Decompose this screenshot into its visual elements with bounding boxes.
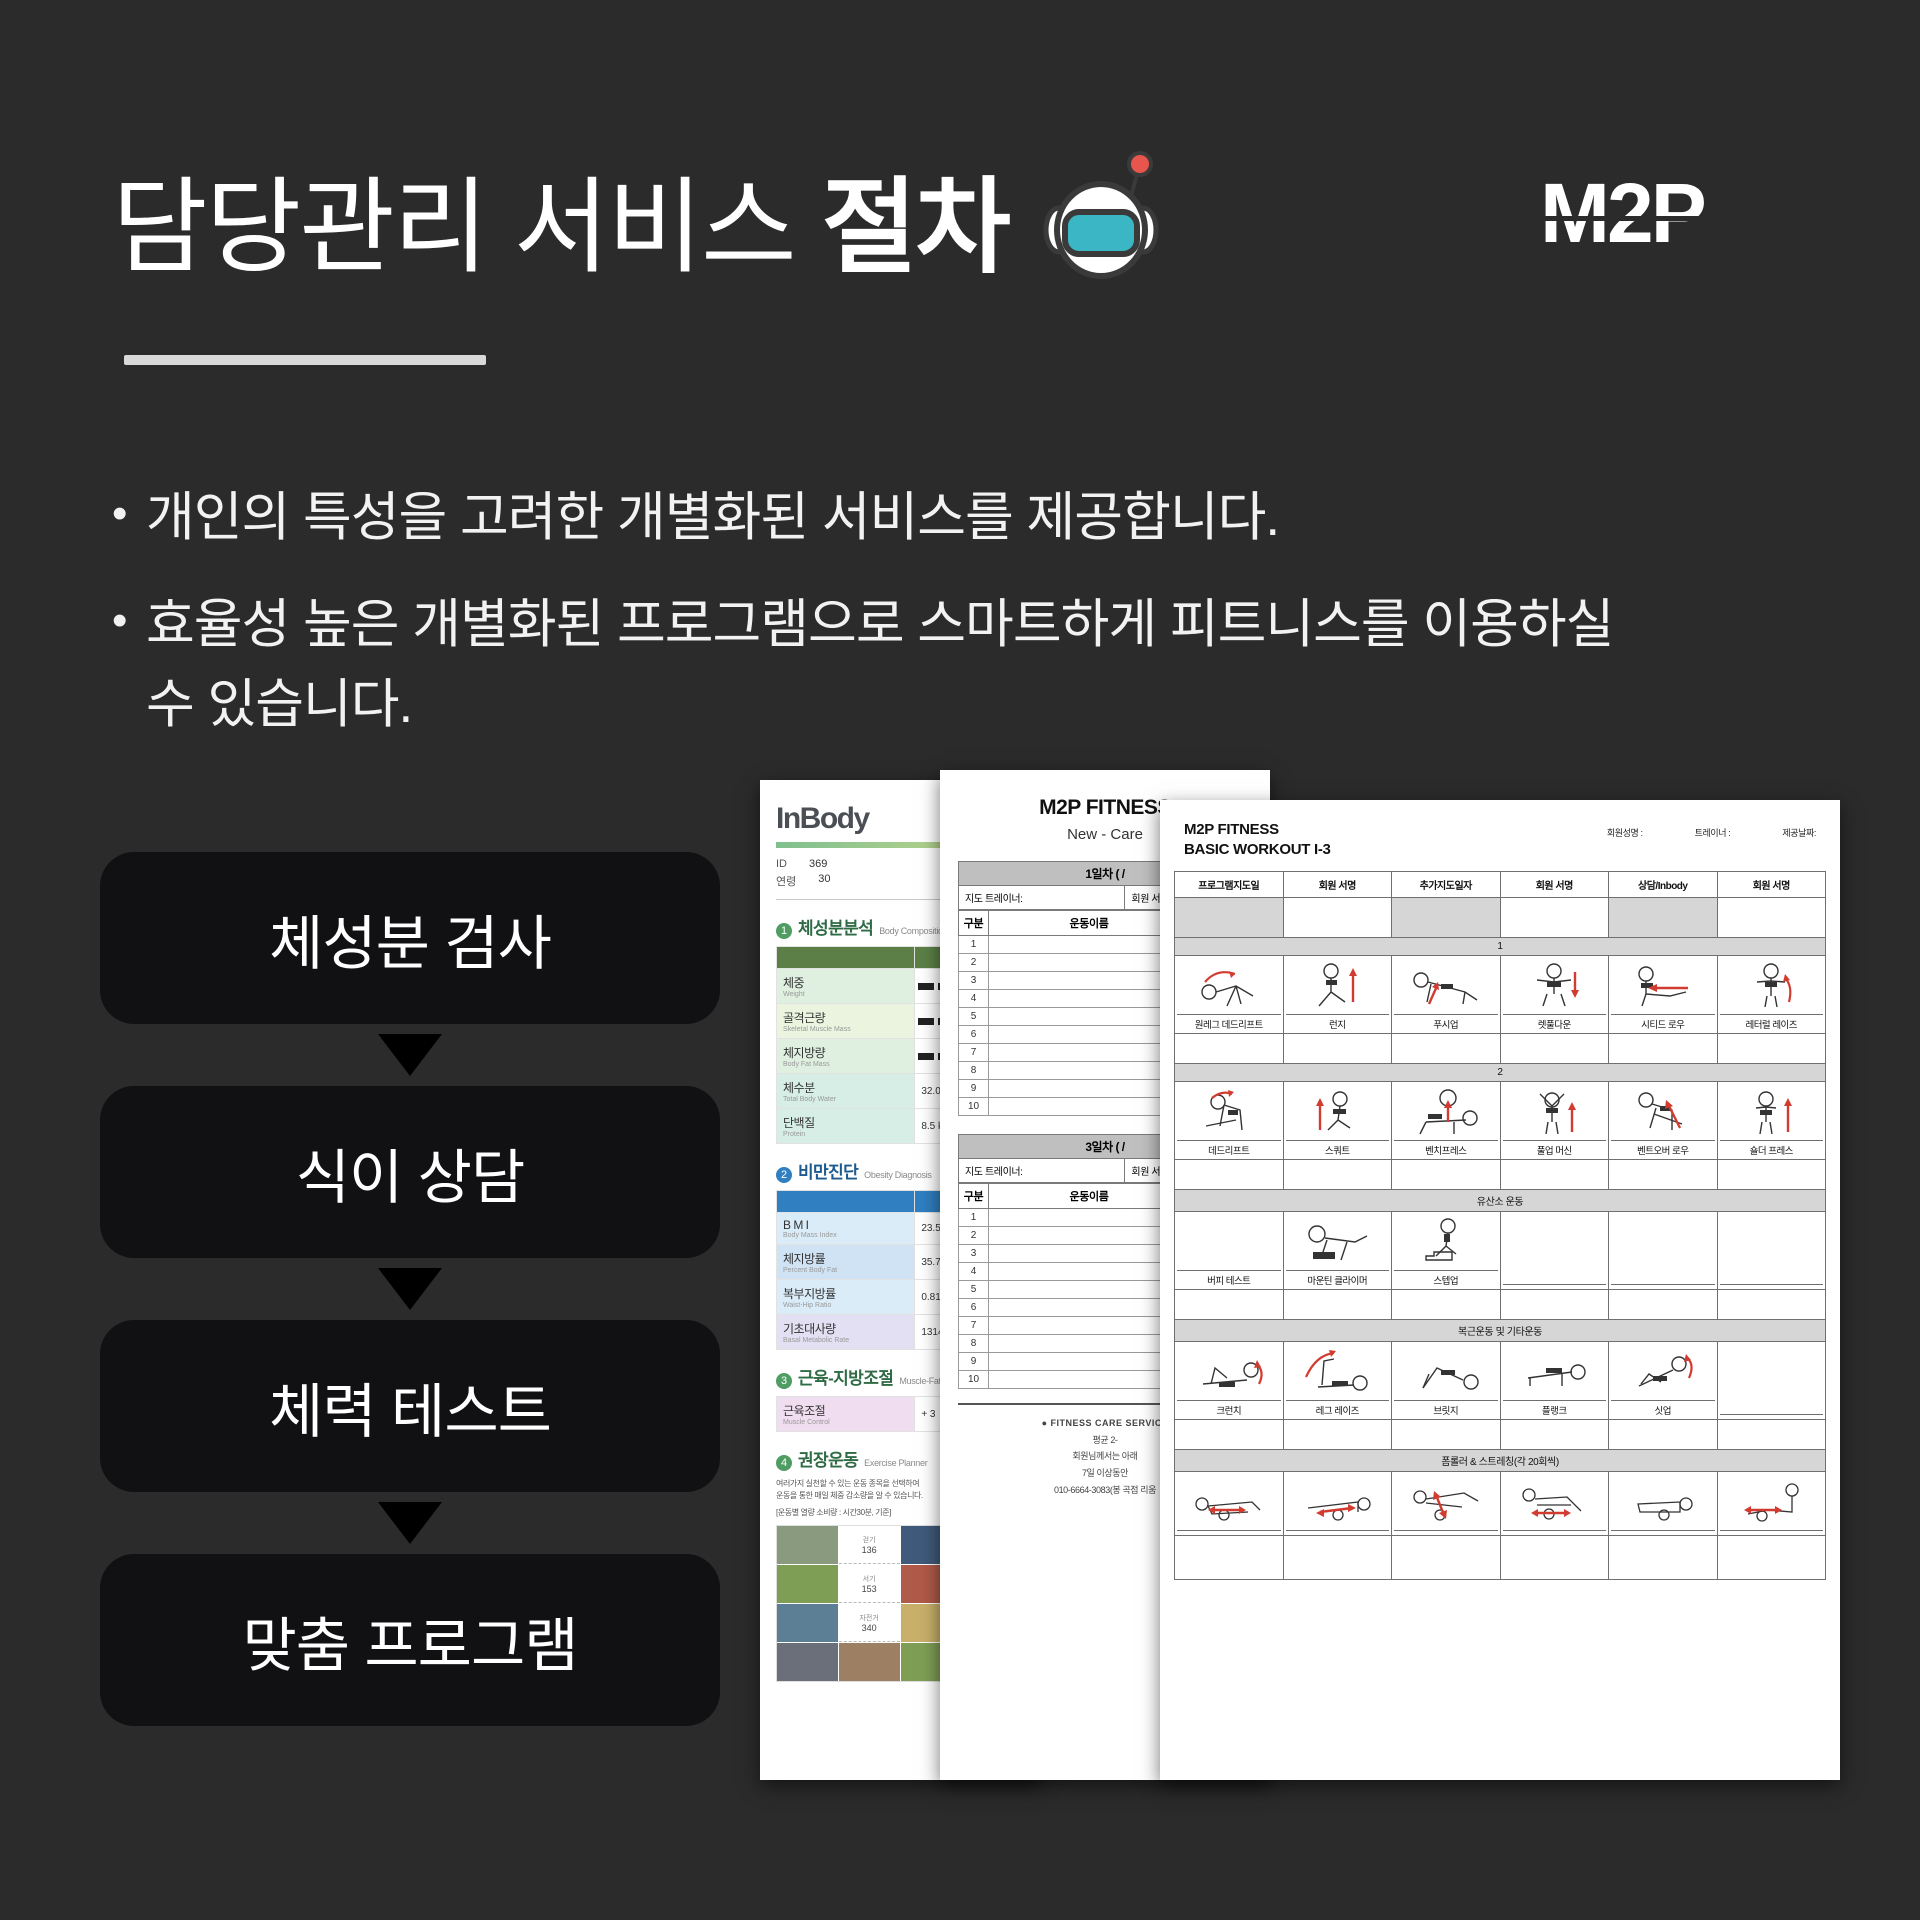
workout-brand: M2P FITNESS BASIC WORKOUT I-3 bbox=[1184, 820, 1331, 861]
figure-sit-up-icon bbox=[1611, 1344, 1715, 1400]
robot-head-icon bbox=[1035, 150, 1167, 282]
document-stack: InBody ID 369 연령 30 1 체성분분석 Body Composi… bbox=[740, 770, 1860, 1800]
row-label-en: Basal Metabolic Rate bbox=[783, 1337, 908, 1344]
inbody-id-value: 369 bbox=[809, 858, 827, 870]
row-label-en: Percent Body Fat bbox=[783, 1267, 908, 1274]
bullet-text: 개인의 특성을 고려한 개별화된 서비스를 제공합니다. bbox=[146, 478, 1672, 559]
exercise-name: 크런치 bbox=[1177, 1400, 1281, 1417]
exercise-cell: 시티드 로우 bbox=[1609, 955, 1718, 1033]
figure-deadlift-icon bbox=[1177, 1084, 1281, 1140]
exercise-cell: 벤치프레스 bbox=[1392, 1081, 1501, 1159]
figure-bent-over-row-icon bbox=[1611, 1084, 1715, 1140]
planner-entry: 걷기 136 bbox=[839, 1526, 900, 1564]
exercise-cell bbox=[1283, 1471, 1392, 1535]
col-gubun: 구분 bbox=[959, 911, 989, 936]
planner-photo bbox=[839, 1643, 900, 1681]
planner-value: 340 bbox=[862, 1623, 877, 1633]
row-label-en: Body Mass Index bbox=[783, 1232, 908, 1239]
row-label-ko: 골격근량 bbox=[783, 1009, 908, 1026]
planner-name: 자전거 bbox=[859, 1613, 878, 1623]
exercise-cell: 버피 테스트 bbox=[1175, 1211, 1284, 1289]
figure-pushup-icon bbox=[1394, 958, 1498, 1014]
row-label-ko: 체지방률 bbox=[783, 1250, 908, 1267]
section-title-ko: 체성분분석 bbox=[798, 914, 873, 939]
row-label-ko: 단백질 bbox=[783, 1114, 908, 1131]
row-label-en: Protein bbox=[783, 1131, 908, 1138]
exercise-name: 싯업 bbox=[1611, 1400, 1715, 1417]
cell[interactable] bbox=[1609, 897, 1718, 937]
row-label-en: Skeletal Muscle Mass bbox=[783, 1026, 908, 1033]
exercise-cell: 런지 bbox=[1283, 955, 1392, 1033]
figure-foam-roll-hamstring-icon bbox=[1286, 1474, 1390, 1530]
planner-photo bbox=[777, 1565, 838, 1603]
row-label-en: Total Body Water bbox=[783, 1096, 908, 1103]
exercise-name bbox=[1611, 1284, 1715, 1287]
figure-foam-roll-it-band-icon bbox=[1394, 1474, 1498, 1530]
figure-lunge-icon bbox=[1286, 958, 1390, 1014]
row-label-en: Weight bbox=[783, 991, 908, 998]
workout-brand-line2: BASIC WORKOUT I-3 bbox=[1184, 840, 1331, 860]
exercise-name: 벤트오버 로우 bbox=[1611, 1140, 1715, 1157]
col-signature-3: 회원 서명 bbox=[1717, 871, 1826, 897]
figure-leg-raise-icon bbox=[1286, 1344, 1390, 1400]
figure-bridge-icon bbox=[1394, 1344, 1498, 1400]
figure-pullup-machine-icon bbox=[1503, 1084, 1607, 1140]
field-member-name[interactable]: 회원성명 : bbox=[1607, 826, 1643, 839]
bullet-item: • 개인의 특성을 고려한 개별화된 서비스를 제공합니다. bbox=[112, 478, 1672, 559]
field-trainer[interactable]: 트레이너 : bbox=[1695, 826, 1731, 839]
exercise-name bbox=[1720, 1414, 1824, 1417]
triangle-down-icon bbox=[378, 1502, 442, 1544]
table-header-row: 프로그램지도일 회원 서명 추가지도일자 회원 서명 상담/Inbody 회원 … bbox=[1175, 871, 1826, 897]
flow-step-2[interactable]: 식이 상담 bbox=[100, 1086, 720, 1258]
figure-burpee-test-icon bbox=[1177, 1214, 1281, 1270]
figure-step-up-icon bbox=[1394, 1214, 1498, 1270]
flow-arrow-1 bbox=[100, 1024, 720, 1086]
figure-one-leg-deadlift-icon bbox=[1177, 958, 1281, 1014]
flow-step-label: 체성분 검사 bbox=[269, 896, 551, 981]
exercise-cell: 싯업 bbox=[1609, 1341, 1718, 1419]
row-label-ko: 기초대사량 bbox=[783, 1320, 908, 1337]
exercise-name bbox=[1503, 1530, 1607, 1533]
section-band-label: 복근운동 및 기타운동 bbox=[1175, 1319, 1826, 1341]
row-label-ko: 체수분 bbox=[783, 1079, 908, 1096]
exercise-cell: 원레그 데드리프트 bbox=[1175, 955, 1284, 1033]
section-number: 4 bbox=[776, 1455, 792, 1471]
figure-crunch-icon bbox=[1177, 1344, 1281, 1400]
col-extra-date: 추가지도일자 bbox=[1392, 871, 1501, 897]
title-underline bbox=[124, 355, 486, 365]
flow-step-label: 체력 테스트 bbox=[269, 1364, 551, 1449]
planner-photo bbox=[777, 1643, 838, 1681]
planner-photo bbox=[777, 1526, 838, 1564]
inbody-age-label: 연령 bbox=[776, 873, 796, 889]
exercise-name: 푸시업 bbox=[1394, 1014, 1498, 1031]
exercise-name bbox=[1503, 1284, 1607, 1287]
m2p-logo-text: M2P bbox=[1540, 172, 1705, 258]
trainer-label: 지도 트레이너: bbox=[959, 1159, 1124, 1182]
bullet-text: 효율성 높은 개별화된 프로그램으로 스마트하게 피트니스를 이용하실 수 있습… bbox=[146, 585, 1672, 746]
figure-foam-roll-calf-icon bbox=[1177, 1474, 1281, 1530]
section-number: 2 bbox=[776, 1167, 792, 1183]
notes-row bbox=[1175, 1159, 1826, 1189]
exercise-name bbox=[1720, 1530, 1824, 1533]
section-title-ko: 근육-지방조절 bbox=[798, 1364, 893, 1389]
cell[interactable] bbox=[1717, 897, 1826, 937]
row-label-en: Muscle Control bbox=[783, 1419, 908, 1426]
exercise-cell: 풀업 머신 bbox=[1500, 1081, 1609, 1159]
cell[interactable] bbox=[1392, 897, 1501, 937]
exercise-cell: 브릿지 bbox=[1392, 1341, 1501, 1419]
exercise-name bbox=[1394, 1530, 1498, 1533]
exercise-name: 마운틴 클라이머 bbox=[1286, 1270, 1390, 1287]
exercise-name: 렛풀다운 bbox=[1503, 1014, 1607, 1031]
exercise-cell: 렛풀다운 bbox=[1500, 955, 1609, 1033]
figure-foam-roll-glute-icon bbox=[1720, 1474, 1824, 1530]
exercise-name: 플랭크 bbox=[1503, 1400, 1607, 1417]
exercise-cell: 벤트오버 로우 bbox=[1609, 1081, 1718, 1159]
figure-mountain-climber-icon bbox=[1286, 1214, 1390, 1270]
inbody-age-value: 30 bbox=[818, 873, 830, 889]
figure-bench-press-icon bbox=[1394, 1084, 1498, 1140]
cell[interactable] bbox=[1283, 897, 1392, 937]
planner-entry: 서기 153 bbox=[839, 1565, 900, 1603]
exercise-cell[interactable] bbox=[1717, 1211, 1826, 1289]
workout-table: 프로그램지도일 회원 서명 추가지도일자 회원 서명 상담/Inbody 회원 … bbox=[1174, 871, 1826, 1580]
exercise-name: 풀업 머신 bbox=[1503, 1140, 1607, 1157]
exercise-name: 시티드 로우 bbox=[1611, 1014, 1715, 1031]
flow-arrow-3 bbox=[100, 1492, 720, 1554]
signature-blank-row bbox=[1175, 897, 1826, 937]
planner-name: 서기 bbox=[863, 1574, 876, 1584]
exercise-row: 크런치 레그 레이즈 브릿지 플랭크 싯업 bbox=[1175, 1341, 1826, 1419]
exercise-cell: 푸시업 bbox=[1392, 955, 1501, 1033]
bullet-list: • 개인의 특성을 고려한 개별화된 서비스를 제공합니다. • 효율성 높은 … bbox=[112, 478, 1672, 746]
bullet-item: • 효율성 높은 개별화된 프로그램으로 스마트하게 피트니스를 이용하실 수 … bbox=[112, 585, 1672, 746]
exercise-cell bbox=[1609, 1471, 1718, 1535]
row-label-ko: 근육조절 bbox=[783, 1402, 908, 1419]
exercise-row: 데드리프트 스쿼트 벤치프레스 풀업 머신 벤트오버 로우 숄더 프레스 bbox=[1175, 1081, 1826, 1159]
exercise-name bbox=[1286, 1530, 1390, 1533]
section-title-ko: 권장운동 bbox=[798, 1446, 858, 1471]
exercise-cell bbox=[1717, 1471, 1826, 1535]
planner-value: 153 bbox=[862, 1584, 877, 1594]
planner-photo bbox=[777, 1604, 838, 1642]
section-title-ko: 비만진단 bbox=[798, 1158, 858, 1183]
slide-root: 담당관리 서비스 절차 M2P M2P • 개인의 특성을 고려한 개별화된 서… bbox=[0, 0, 1920, 1920]
exercise-cell: 숄더 프레스 bbox=[1717, 1081, 1826, 1159]
planner-entry: 자전거 340 bbox=[839, 1604, 900, 1642]
flow-step-3[interactable]: 체력 테스트 bbox=[100, 1320, 720, 1492]
exercise-cell bbox=[1500, 1471, 1609, 1535]
row-label-ko: 체지방량 bbox=[783, 1044, 908, 1061]
workout-brand-line1: M2P FITNESS bbox=[1184, 820, 1331, 840]
exercise-name bbox=[1611, 1530, 1715, 1533]
workout-header: M2P FITNESS BASIC WORKOUT I-3 회원성명 : 트레이… bbox=[1174, 818, 1826, 871]
basic-workout-sheet[interactable]: M2P FITNESS BASIC WORKOUT I-3 회원성명 : 트레이… bbox=[1160, 800, 1840, 1780]
exercise-cell: 크런치 bbox=[1175, 1341, 1284, 1419]
cell[interactable] bbox=[1175, 897, 1284, 937]
exercise-row bbox=[1175, 1471, 1826, 1535]
workout-fields: 회원성명 : 트레이너 : 제공날짜: bbox=[1607, 820, 1816, 839]
row-label-ko: B M I bbox=[783, 1218, 908, 1232]
flow-step-4[interactable]: 맞춤 프로그램 bbox=[100, 1554, 720, 1726]
exercise-cell[interactable] bbox=[1717, 1341, 1826, 1419]
planner-value: 136 bbox=[862, 1545, 877, 1555]
exercise-cell bbox=[1175, 1471, 1284, 1535]
col-label bbox=[777, 947, 915, 969]
exercise-cell: 스쿼트 bbox=[1283, 1081, 1392, 1159]
section-number: 1 bbox=[776, 923, 792, 939]
exercise-name: 숄더 프레스 bbox=[1720, 1140, 1824, 1157]
exercise-name: 스텝업 bbox=[1394, 1270, 1498, 1287]
section-band-label: 2 bbox=[1175, 1063, 1826, 1081]
exercise-cell[interactable] bbox=[1609, 1211, 1718, 1289]
process-flow: 체성분 검사 식이 상담 체력 테스트 맞춤 프로그램 bbox=[100, 852, 720, 1726]
col-signature-2: 회원 서명 bbox=[1500, 871, 1609, 897]
notes-row bbox=[1175, 1419, 1826, 1449]
exercise-cell: 레그 레이즈 bbox=[1283, 1341, 1392, 1419]
section-number: 3 bbox=[776, 1373, 792, 1389]
trainer-label: 지도 트레이너: bbox=[959, 886, 1124, 909]
section-band-label: 유산소 운동 bbox=[1175, 1189, 1826, 1211]
figure-plank-icon bbox=[1503, 1344, 1607, 1400]
exercise-name: 레터럴 레이즈 bbox=[1720, 1014, 1824, 1031]
col-consult-inbody: 상담/Inbody bbox=[1609, 871, 1718, 897]
col-signature-1: 회원 서명 bbox=[1283, 871, 1392, 897]
col-gubun: 구분 bbox=[959, 1184, 989, 1209]
exercise-name: 런지 bbox=[1286, 1014, 1390, 1031]
notes-row bbox=[1175, 1033, 1826, 1063]
triangle-down-icon bbox=[378, 1034, 442, 1076]
exercise-name: 스쿼트 bbox=[1286, 1140, 1390, 1157]
section-band: 복근운동 및 기타운동 bbox=[1175, 1319, 1826, 1341]
notes-row bbox=[1175, 1535, 1826, 1579]
flow-arrow-2 bbox=[100, 1258, 720, 1320]
section-title-en: Obesity Diagnosis bbox=[864, 1170, 931, 1180]
bullet-marker: • bbox=[112, 585, 146, 656]
notes-row bbox=[1175, 1289, 1826, 1319]
exercise-name: 벤치프레스 bbox=[1394, 1140, 1498, 1157]
figure-squat-icon bbox=[1286, 1084, 1390, 1140]
figure-lateral-raise-icon bbox=[1720, 958, 1824, 1014]
exercise-name: 브릿지 bbox=[1394, 1400, 1498, 1417]
page-header: 담당관리 서비스 절차 bbox=[112, 150, 1167, 286]
exercise-cell: 스텝업 bbox=[1392, 1211, 1501, 1289]
exercise-cell: 마운틴 클라이머 bbox=[1283, 1211, 1392, 1289]
section-band: 폼롤러 & 스트레칭(각 20회씩) bbox=[1175, 1449, 1826, 1471]
exercise-name bbox=[1720, 1284, 1824, 1287]
triangle-down-icon bbox=[378, 1268, 442, 1310]
row-label-ko: 복부지방률 bbox=[783, 1285, 908, 1302]
exercise-cell[interactable] bbox=[1500, 1211, 1609, 1289]
exercise-row: 버피 테스트 마운틴 클라이머 스텝업 bbox=[1175, 1211, 1826, 1289]
flow-step-label: 맞춤 프로그램 bbox=[242, 1598, 577, 1683]
figure-foam-roll-quad-icon bbox=[1503, 1474, 1607, 1530]
row-label-en: Waist-Hip Ratio bbox=[783, 1302, 908, 1309]
exercise-name bbox=[1177, 1530, 1281, 1533]
section-band: 유산소 운동 bbox=[1175, 1189, 1826, 1211]
section-band: 2 bbox=[1175, 1063, 1826, 1081]
exercise-row: 원레그 데드리프트 런지 푸시업 렛풀다운 시티드 로우 레터럴 레이즈 bbox=[1175, 955, 1826, 1033]
title-bold: 절차 bbox=[822, 170, 1009, 286]
row-label-ko: 체중 bbox=[783, 974, 908, 991]
section-band-label: 1 bbox=[1175, 937, 1826, 955]
exercise-name: 원레그 데드리프트 bbox=[1177, 1014, 1281, 1031]
exercise-cell: 레터럴 레이즈 bbox=[1717, 955, 1826, 1033]
figure-foam-roll-back-icon bbox=[1611, 1474, 1715, 1530]
page-title: 담당관리 서비스 절차 bbox=[112, 170, 1009, 286]
inbody-id-label: ID bbox=[776, 858, 787, 870]
exercise-cell: 플랭크 bbox=[1500, 1341, 1609, 1419]
figure-seated-row-icon bbox=[1611, 958, 1715, 1014]
planner-name: 걷기 bbox=[863, 1535, 876, 1545]
flow-step-1[interactable]: 체성분 검사 bbox=[100, 852, 720, 1024]
exercise-cell: 데드리프트 bbox=[1175, 1081, 1284, 1159]
exercise-name: 데드리프트 bbox=[1177, 1140, 1281, 1157]
m2p-logo: M2P bbox=[1540, 172, 1780, 258]
exercise-name: 버피 테스트 bbox=[1177, 1270, 1281, 1287]
title-normal: 담당관리 서비스 bbox=[112, 170, 822, 286]
figure-lat-pulldown-icon bbox=[1503, 958, 1607, 1014]
field-date[interactable]: 제공날짜: bbox=[1782, 826, 1816, 839]
flow-step-label: 식이 상담 bbox=[296, 1130, 525, 1215]
col-program-date: 프로그램지도일 bbox=[1175, 871, 1284, 897]
exercise-cell bbox=[1392, 1471, 1501, 1535]
exercise-name: 레그 레이즈 bbox=[1286, 1400, 1390, 1417]
section-band: 1 bbox=[1175, 937, 1826, 955]
section-band-label: 폼롤러 & 스트레칭(각 20회씩) bbox=[1175, 1449, 1826, 1471]
bullet-marker: • bbox=[112, 478, 146, 549]
cell[interactable] bbox=[1500, 897, 1609, 937]
figure-shoulder-press-icon bbox=[1720, 1084, 1824, 1140]
row-label-en: Body Fat Mass bbox=[783, 1061, 908, 1068]
section-title-en: Exercise Planner bbox=[864, 1458, 927, 1468]
